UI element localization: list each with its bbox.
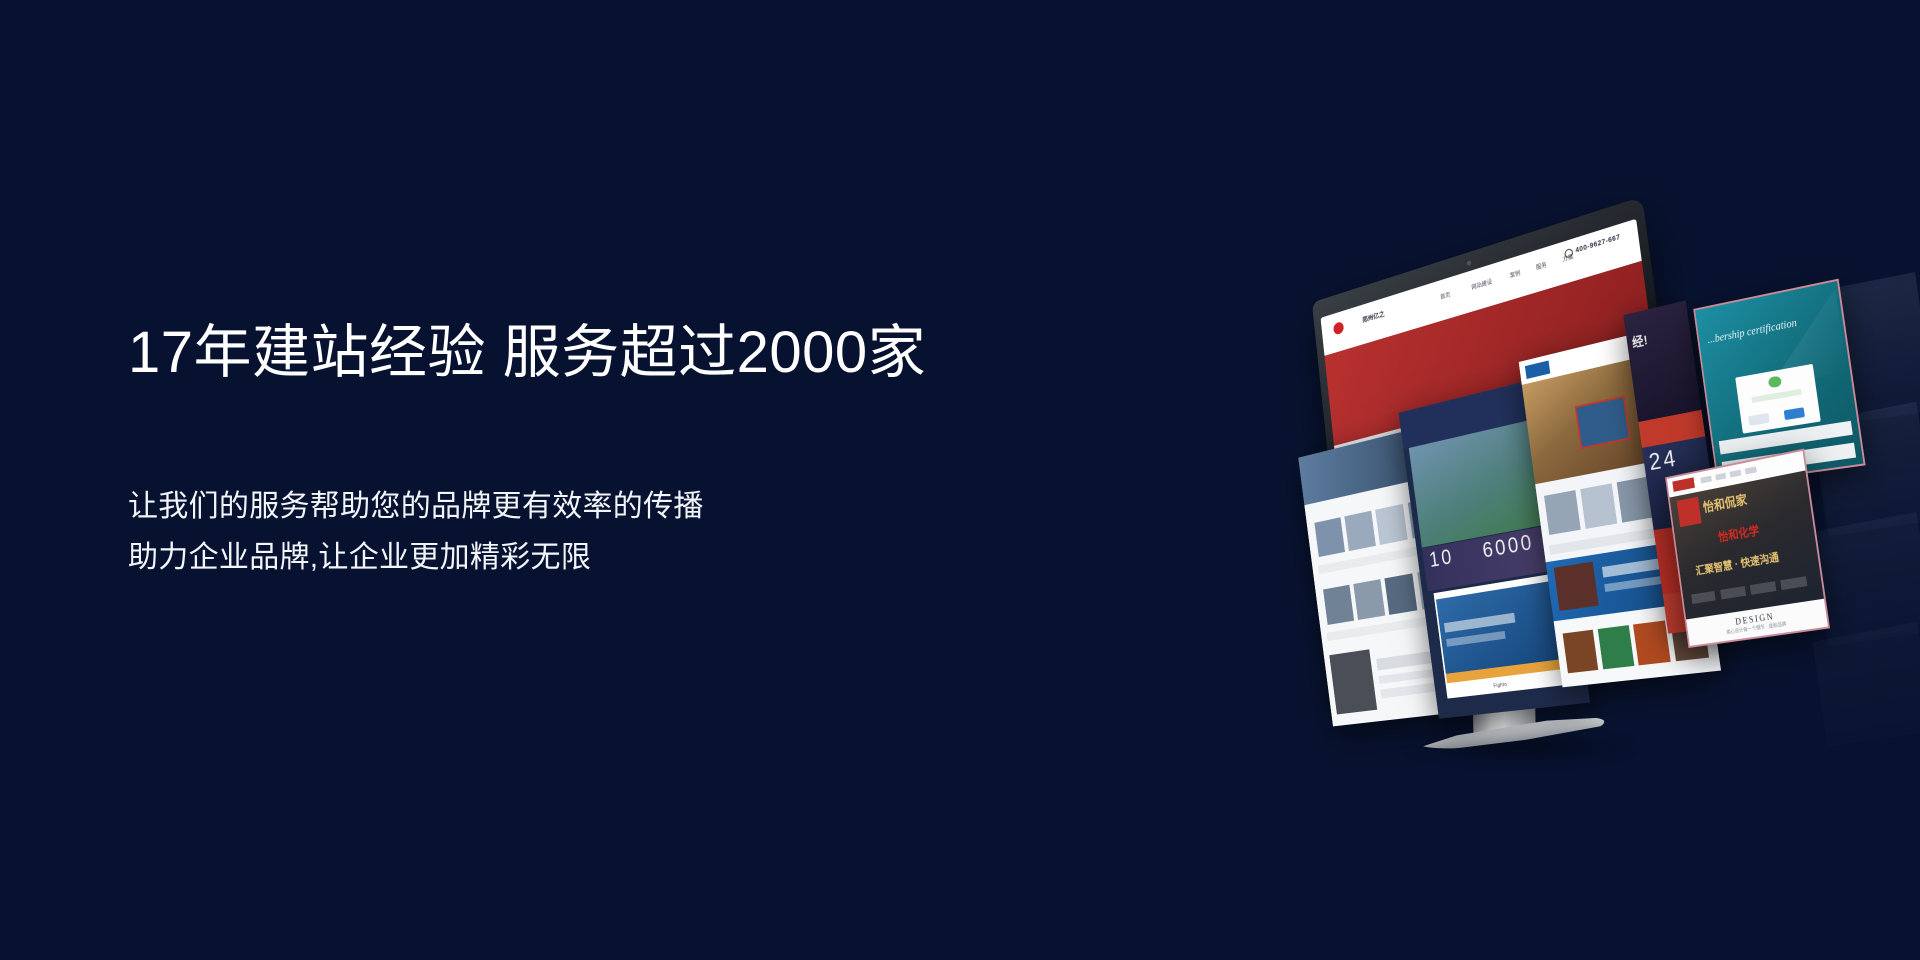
hero-subtitle-group: 让我们的服务帮助您的品牌更有效率的传播 助力企业品牌,让企业更加精彩无限 [128, 481, 1028, 584]
confirm-button[interactable] [1784, 407, 1806, 419]
nav-item-3[interactable]: 服务 [1535, 260, 1547, 272]
success-check-icon [1768, 375, 1782, 389]
monitor-illustration: 郑州亿之 首页 网站建设 案例 服务 方案 400-9627-667 [1285, 225, 1920, 745]
certification-title: ...bership certification [1706, 315, 1797, 347]
ghost-screen-4 [1813, 622, 1920, 747]
nav-item-0[interactable]: 首页 [1440, 290, 1451, 301]
hero-subtitle-line-1: 让我们的服务帮助您的品牌更有效率的传播 [128, 481, 1028, 533]
site-logo-icon [1333, 321, 1344, 336]
page-title: 17年建站经验 服务超过2000家 [128, 320, 1028, 387]
nav-item-2[interactable]: 案例 [1509, 268, 1521, 280]
site-logo-text: 郑州亿之 [1362, 309, 1385, 325]
hero-subtitle-line-2: 助力企业品牌,让企业更加精彩无限 [128, 532, 1028, 584]
strip-mark: 经! [1631, 329, 1649, 351]
stat-value-a: 10 [1428, 544, 1455, 573]
certification-dialog [1735, 364, 1820, 434]
strip-number: 24 [1647, 445, 1679, 477]
site-phone-block: 400-9627-667 [1564, 233, 1621, 259]
webcam-dot-icon [1466, 260, 1471, 266]
hero-banner: 17年建站经验 服务超过2000家 让我们的服务帮助您的品牌更有效率的传播 助力… [0, 0, 1920, 960]
cancel-button[interactable] [1748, 413, 1769, 425]
website-panel-calligraphy[interactable]: 怡和侃家 怡和化学 汇聚智慧 · 快速沟通 DESIGN 用心设计每一个细节 ·… [1665, 449, 1830, 648]
nav-item-1[interactable]: 网站建设 [1471, 277, 1493, 292]
hero-copy-block: 17年建站经验 服务超过2000家 让我们的服务帮助您的品牌更有效率的传播 助力… [128, 320, 1028, 584]
site-phone-number: 400-9627-667 [1575, 234, 1621, 255]
